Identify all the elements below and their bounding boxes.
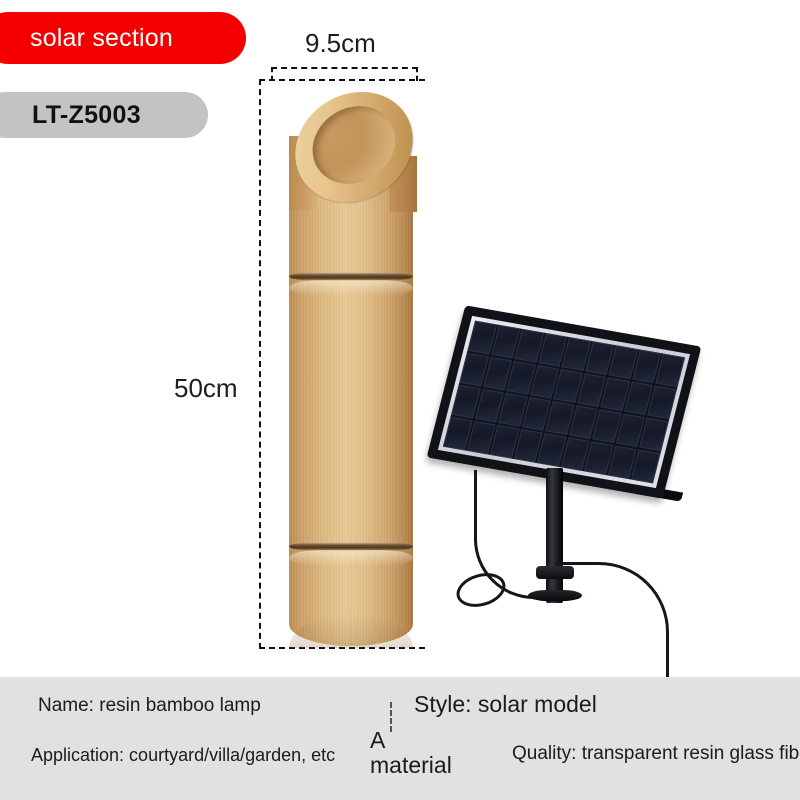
spec-quality: Quality: transparent resin glass fiber: [512, 743, 800, 765]
width-dimension-label: 9.5cm: [305, 28, 376, 59]
height-dimension-label: 50cm: [174, 373, 238, 404]
spec-application: Application: courtyard/villa/garden, etc: [31, 745, 335, 766]
model-badge-label: LT-Z5003: [32, 101, 141, 130]
bamboo-node-ring-upper: [289, 272, 413, 281]
solar-panel-frame: [427, 305, 702, 498]
model-badge: LT-Z5003: [0, 92, 208, 138]
width-dimension-guide: [271, 67, 418, 81]
bamboo-lamp-product-image: [281, 82, 421, 648]
material-grade-line2: material: [370, 753, 500, 778]
solar-cable-lower: [556, 562, 669, 693]
material-grade-callout: A material: [370, 728, 500, 778]
lamp-angled-top-cut: [285, 82, 417, 232]
spec-style: Style: solar model: [414, 691, 597, 718]
bamboo-node-ring-lower: [289, 542, 413, 551]
solar-cell: [640, 418, 669, 452]
spec-name: Name: resin bamboo lamp: [38, 695, 261, 717]
category-badge: solar section: [0, 12, 246, 64]
solar-cell: [631, 450, 660, 484]
material-grade-line1: A: [370, 727, 385, 753]
solar-panel-assembly: [428, 318, 718, 668]
solar-cell: [656, 354, 685, 388]
lamp-tube-body: [289, 168, 413, 646]
solar-cell: [648, 386, 677, 420]
solar-panel-inner-border: [438, 316, 690, 488]
solar-panel-cell-grid: [443, 321, 685, 484]
category-badge-label: solar section: [30, 24, 173, 53]
